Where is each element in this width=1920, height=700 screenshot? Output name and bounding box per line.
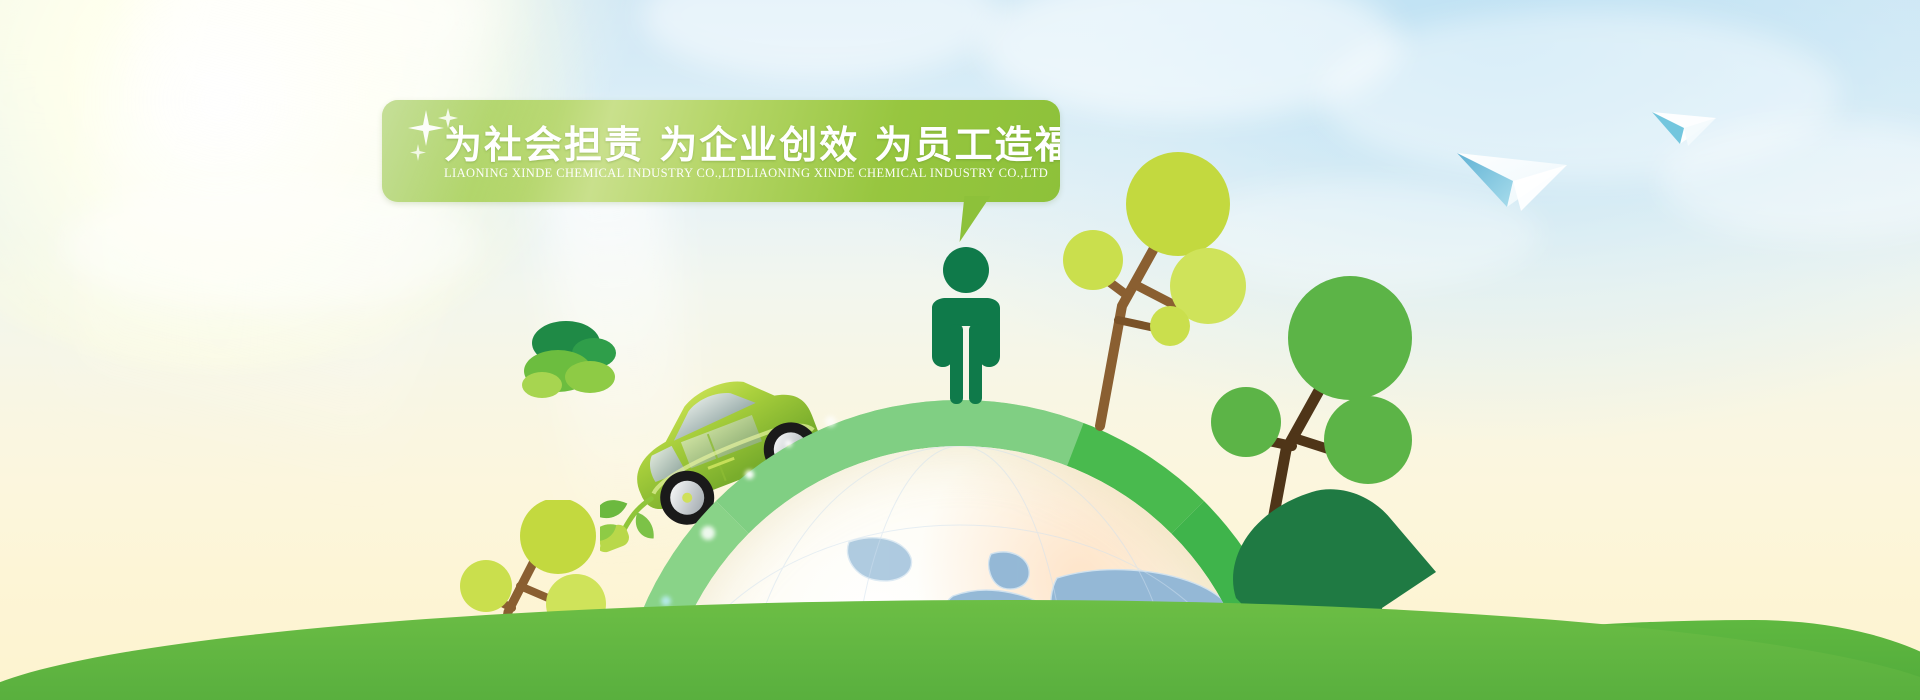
- headline-banner: 为社会担责 为企业创效 为员工造福 LIAONING XINDE CHEMICA…: [382, 100, 1060, 202]
- sparkle-dot: [701, 526, 715, 540]
- banner-subline: LIAONING XINDE CHEMICAL INDUSTRY CO.,LTD…: [444, 166, 1050, 181]
- sparkle-dot: [745, 470, 754, 479]
- sparkle-dot: [825, 416, 836, 427]
- sparkle-dot: [661, 596, 671, 606]
- speech-bubble-tail: [960, 196, 1007, 242]
- eco-banner: 为社会担责 为企业创效 为员工造福 LIAONING XINDE CHEMICA…: [0, 0, 1920, 700]
- paper-plane-small-icon: [1650, 100, 1720, 150]
- sparkle-dot: [785, 440, 792, 447]
- paper-plane-large-icon: [1455, 135, 1575, 215]
- standing-person: [918, 246, 1014, 411]
- banner-headline: 为社会担责 为企业创效 为员工造福: [444, 114, 1046, 169]
